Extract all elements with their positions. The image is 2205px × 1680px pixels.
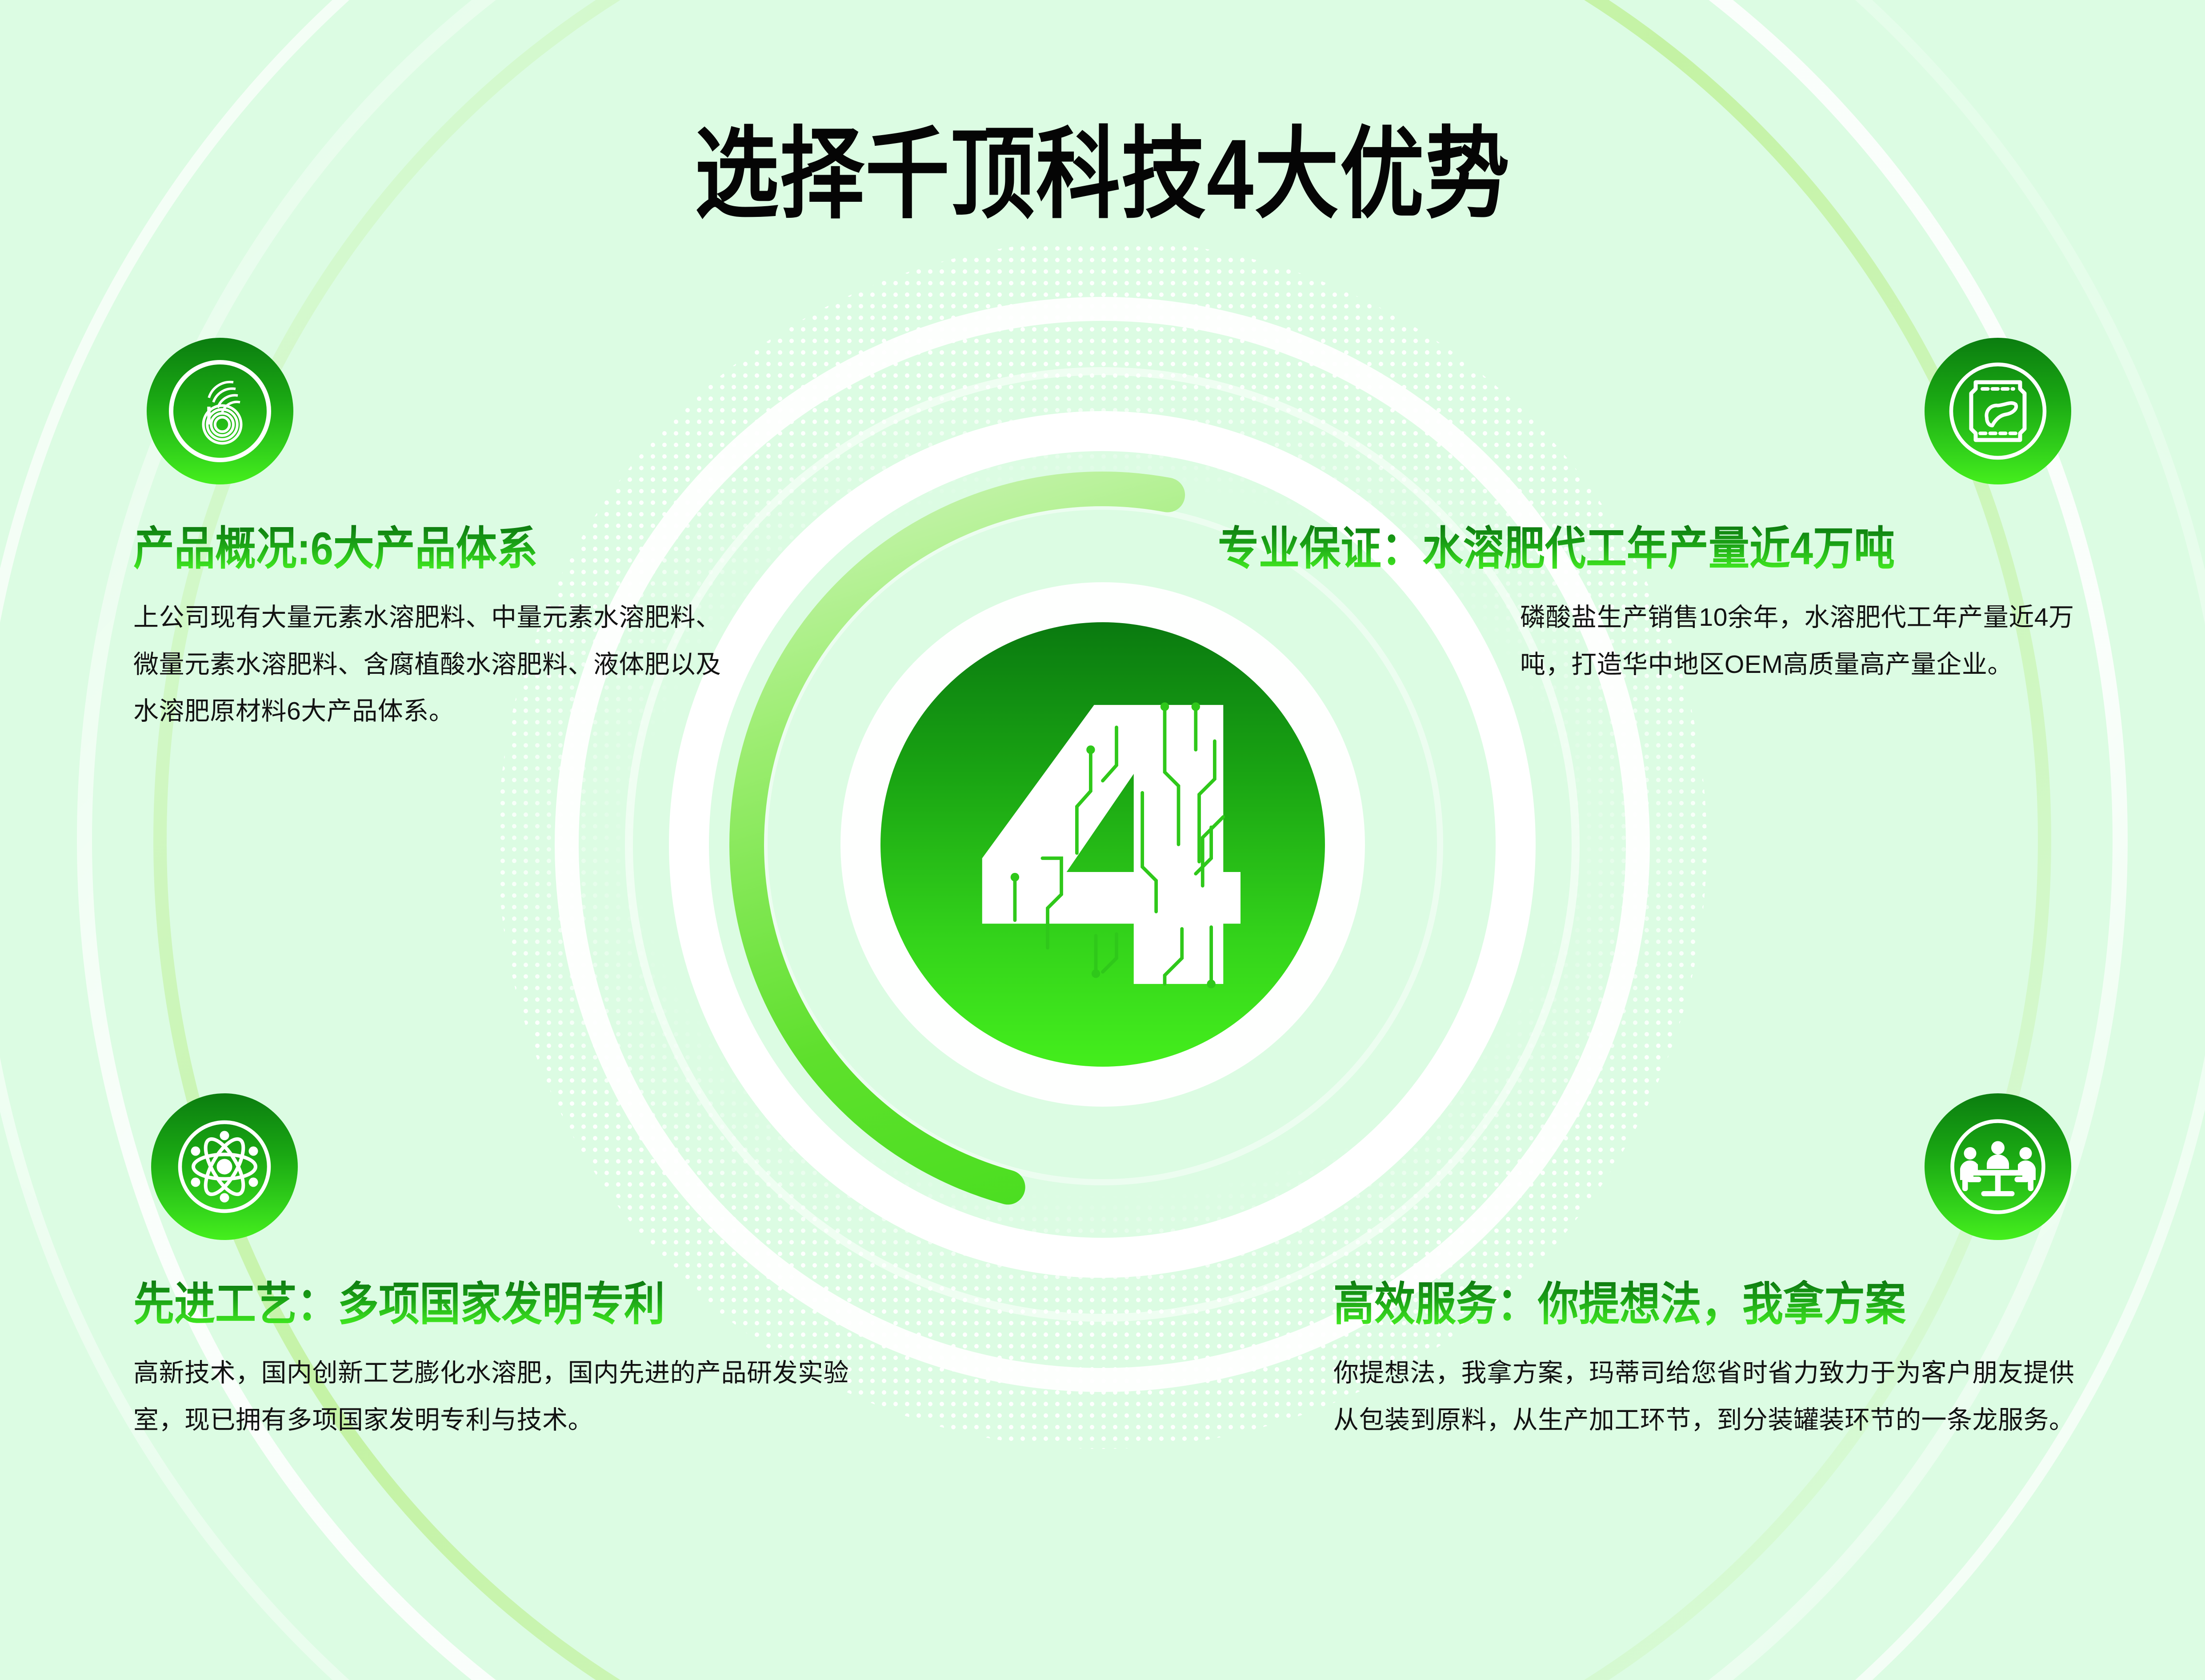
feature-bottom-right: 高效服务：你提想法，我拿方案 你提想法，我拿方案，玛蒂司给您省时省力致力于为客户… bbox=[1333, 1280, 2098, 1444]
feature-title: 产品概况:6大产品体系 bbox=[133, 524, 742, 574]
circuit-number-four-icon bbox=[965, 689, 1241, 1000]
feature-body: 高新技术，国内创新工艺膨化水溶肥，国内先进的产品研发实验室，现已拥有多项国家发明… bbox=[133, 1350, 889, 1444]
feature-top-right: 专业保证：水溶肥代工年产量近4万吨 磷酸盐生产销售10余年，水溶肥代工年产量近4… bbox=[1520, 524, 2098, 688]
feature-body: 你提想法，我拿方案，玛蒂司给您省时省力致力于为客户朋友提供从包装到原料，从生产加… bbox=[1333, 1350, 2098, 1444]
feature-title: 高效服务：你提想法，我拿方案 bbox=[1333, 1280, 2098, 1329]
atom-icon bbox=[151, 1093, 298, 1240]
feature-bottom-left: 先进工艺：多项国家发明专利 高新技术，国内创新工艺膨化水溶肥，国内先进的产品研发… bbox=[133, 1280, 889, 1444]
feature-top-left: 产品概况:6大产品体系 上公司现有大量元素水溶肥料、中量元素水溶肥料、微量元素水… bbox=[133, 524, 742, 735]
number-six-rings-icon bbox=[147, 338, 293, 484]
infographic-canvas: 选择千顶科技4大优势 bbox=[0, 0, 2205, 1680]
center-medallion bbox=[840, 582, 1365, 1107]
center-disc bbox=[880, 622, 1325, 1067]
fertilizer-bag-icon bbox=[1925, 338, 2071, 484]
feature-title: 先进工艺：多项国家发明专利 bbox=[133, 1280, 889, 1329]
meeting-table-icon bbox=[1925, 1093, 2071, 1240]
feature-body: 磷酸盐生产销售10余年，水溶肥代工年产量近4万吨，打造华中地区OEM高质量高产量… bbox=[1520, 594, 2098, 688]
feature-body: 上公司现有大量元素水溶肥料、中量元素水溶肥料、微量元素水溶肥料、含腐植酸水溶肥料… bbox=[133, 594, 742, 735]
feature-title: 专业保证：水溶肥代工年产量近4万吨 bbox=[1218, 524, 2098, 574]
fertilizer-bag-glyph bbox=[1942, 356, 2053, 467]
meeting-table-glyph bbox=[1942, 1111, 2053, 1222]
number-six-rings-glyph bbox=[164, 356, 276, 467]
atom-glyph bbox=[169, 1111, 280, 1222]
page-title: 选择千顶科技4大优势 bbox=[0, 93, 2205, 238]
